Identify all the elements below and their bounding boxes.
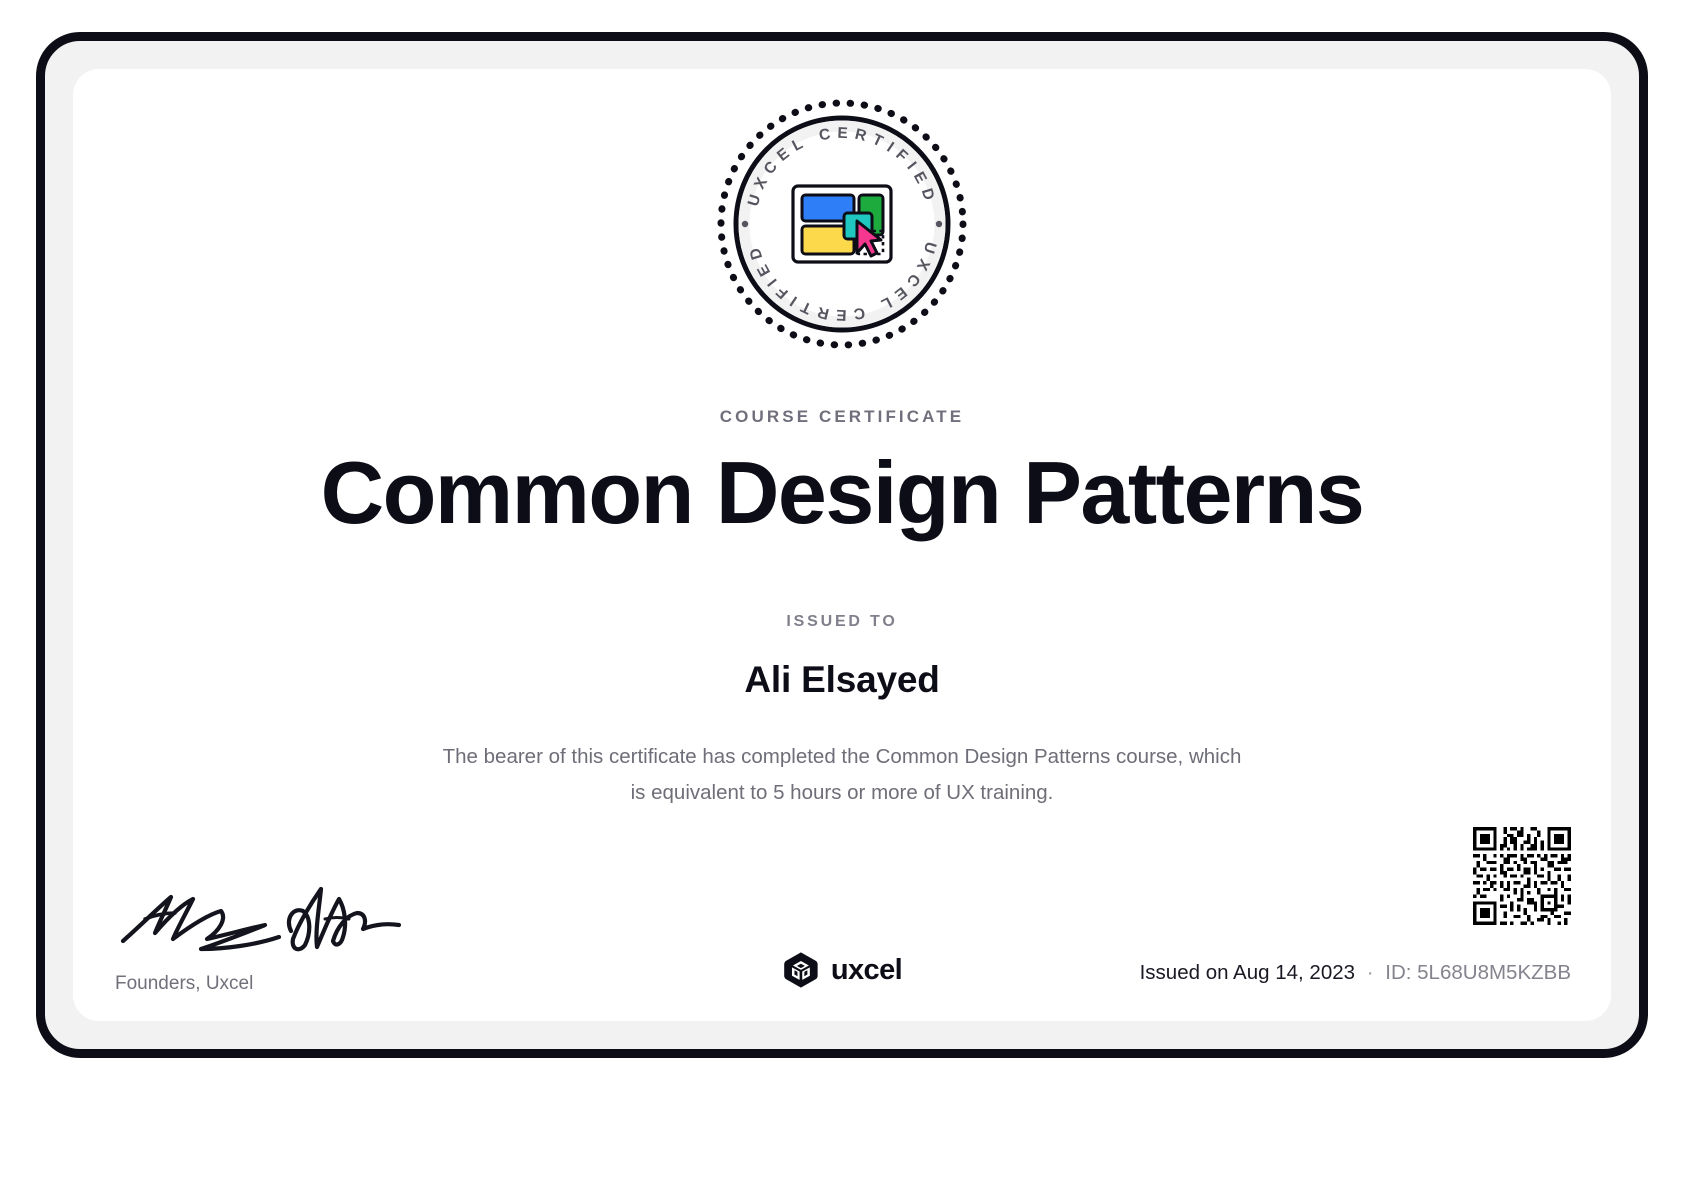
uxcel-brand-mark: uxcel <box>782 951 902 989</box>
qr-code-icon[interactable] <box>1473 827 1571 925</box>
seal-bullet-left <box>742 221 748 227</box>
certification-seal: UXCEL CERTIFIED UXCEL CERTIFIED <box>711 93 973 355</box>
course-title: Common Design Patterns <box>73 447 1611 539</box>
certificate-description: The bearer of this certificate has compl… <box>442 739 1242 812</box>
qr-code[interactable] <box>1473 827 1571 925</box>
seal-svg: UXCEL CERTIFIED UXCEL CERTIFIED <box>711 93 973 355</box>
certificate-card: UXCEL CERTIFIED UXCEL CERTIFIED <box>73 69 1611 1021</box>
uxcel-hexagon-cube-logo-icon <box>782 951 820 989</box>
issue-date: Issued on Aug 14, 2023 <box>1140 961 1355 984</box>
signature-caption: Founders, Uxcel <box>115 973 441 995</box>
uxcel-wordmark: uxcel <box>831 956 902 985</box>
certificate-eyebrow: COURSE CERTIFICATE <box>73 407 1611 427</box>
design-patterns-window-icon <box>793 186 891 262</box>
signature-block: Founders, Uxcel <box>111 875 441 995</box>
issue-meta: Issued on Aug 14, 2023 · ID: 5L68U8M5KZB… <box>1140 961 1571 985</box>
handwritten-signatures-icon <box>115 875 405 959</box>
meta-separator: · <box>1361 961 1380 984</box>
recipient-name: Ali Elsayed <box>73 659 1611 701</box>
issued-to-label: ISSUED TO <box>73 613 1611 631</box>
certificate-frame: UXCEL CERTIFIED UXCEL CERTIFIED <box>36 32 1648 1058</box>
certificate-id: ID: 5L68U8M5KZBB <box>1385 961 1571 984</box>
seal-bullet-right <box>936 221 942 227</box>
